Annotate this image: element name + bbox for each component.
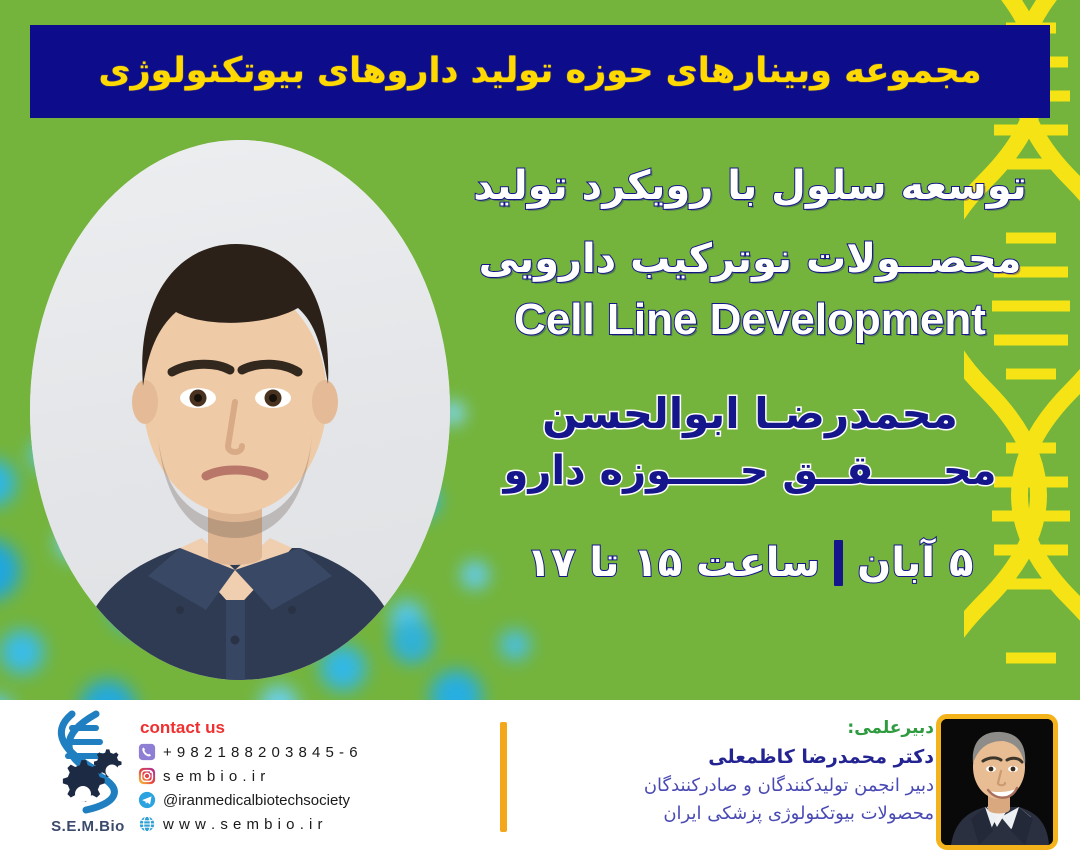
instagram-icon	[138, 767, 156, 785]
datetime-separator	[834, 540, 843, 586]
talk-title-line-1: توسعه سلول با رویکرد تولید	[460, 160, 1040, 213]
poster-footer: S.E.M.Bio contact us + 9 8 2 1 8 8 2 0 3…	[0, 700, 1080, 853]
talk-title-line-2: محصــولات نوترکیب دارویی	[460, 233, 1040, 286]
scientific-secretary-block: دبیرعلمی: دکتر محمدرضا کاظمعلی دبیر انجم…	[514, 716, 934, 828]
contact-row-website[interactable]: w w w . s e m b i o . i r	[138, 812, 438, 836]
speaker-portrait-illustration	[30, 140, 450, 680]
poster-stage: مجموعه وبینارهای حوزه تولید داروهای بیوت…	[0, 0, 1080, 700]
website-value: w w w . s e m b i o . i r	[163, 816, 323, 833]
telegram-value: @iranmedicalbiotechsociety	[163, 792, 350, 809]
instagram-value: s e m b i o . i r	[163, 768, 266, 785]
phone-value: + 9 8 2 1 8 8 2 0 3 8 4 5 - 6	[163, 744, 358, 761]
header-banner-title: مجموعه وبینارهای حوزه تولید داروهای بیوت…	[58, 50, 1021, 94]
header-banner: مجموعه وبینارهای حوزه تولید داروهای بیوت…	[30, 25, 1050, 118]
telegram-icon	[138, 791, 156, 809]
secretary-portrait-illustration	[941, 719, 1053, 845]
organization-logo: S.E.M.Bio	[36, 708, 140, 844]
contact-row-instagram[interactable]: s e m b i o . i r	[138, 764, 438, 788]
secretary-desc-line-2: محصولات بیوتکنولوژی پزشکی ایران	[514, 800, 934, 828]
speaker-photo-frame	[30, 140, 450, 680]
event-time: ساعت ۱۵ تا ۱۷	[527, 541, 821, 585]
secretary-photo	[936, 714, 1058, 850]
speaker-role: محـــــقــق حـــــوزه دارو	[460, 446, 1040, 496]
secretary-name: دکتر محمدرضا کاظمعلی	[514, 742, 934, 772]
speaker-photo	[30, 140, 450, 680]
talk-title-english: Cell Line Development	[460, 296, 1040, 344]
speaker-name: محمدرضـا ابوالحسن	[460, 388, 1040, 441]
footer-divider	[500, 722, 507, 832]
event-date: ۵ آبان	[857, 541, 973, 585]
poster-root: مجموعه وبینارهای حوزه تولید داروهای بیوت…	[0, 0, 1080, 853]
globe-icon	[138, 815, 156, 833]
contact-row-telegram[interactable]: @iranmedicalbiotechsociety	[138, 788, 438, 812]
contact-row-phone[interactable]: + 9 8 2 1 8 8 2 0 3 8 4 5 - 6	[138, 740, 438, 764]
contact-block: contact us + 9 8 2 1 8 8 2 0 3 8 4 5 - 6	[138, 718, 438, 836]
secretary-desc-line-1: دبیر انجمن تولیدکنندگان و صادرکنندگان	[514, 772, 934, 800]
phone-icon	[138, 743, 156, 761]
event-datetime: ۵ آبان ساعت ۱۵ تا ۱۷	[460, 540, 1040, 586]
poster-content: توسعه سلول با رویکرد تولید محصــولات نوت…	[460, 140, 1040, 685]
dna-gears-logo-icon	[42, 708, 134, 816]
secretary-label: دبیرعلمی:	[514, 716, 934, 742]
logo-label: S.E.M.Bio	[36, 818, 140, 835]
contact-title: contact us	[140, 718, 438, 738]
